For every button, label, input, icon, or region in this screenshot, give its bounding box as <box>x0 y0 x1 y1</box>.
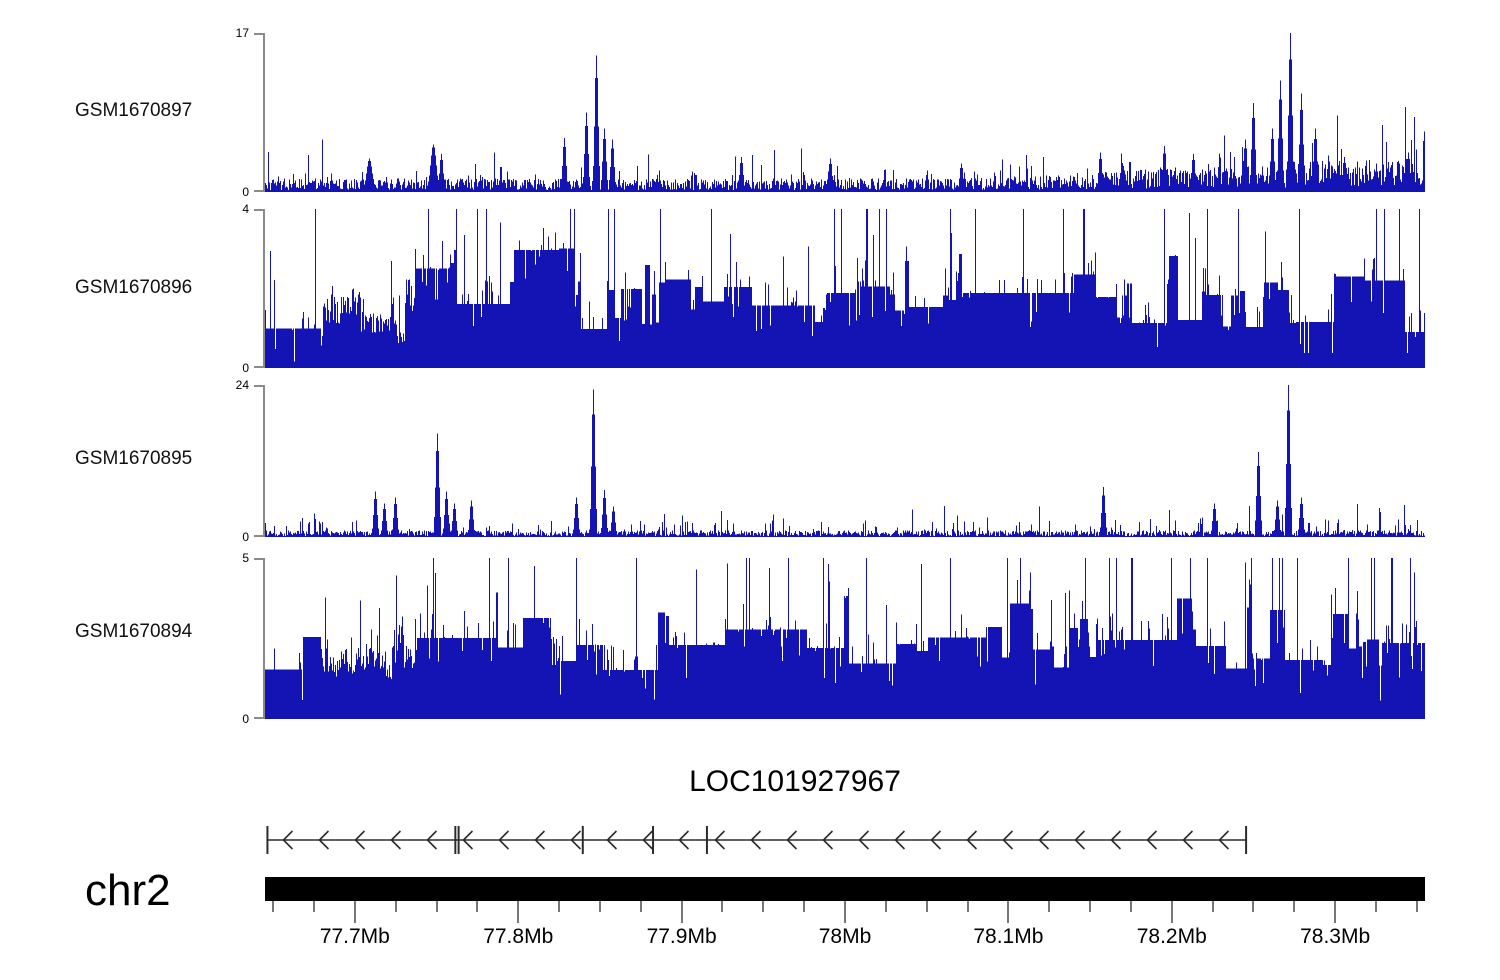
ruler-tick-minor <box>599 901 601 912</box>
y-axis-min-GSM1670897: 0 <box>209 186 249 198</box>
y-axis-max-GSM1670894: 5 <box>209 552 249 564</box>
ruler-tick-label: 77.7Mb <box>275 925 435 949</box>
ruler-tick-minor <box>721 901 723 912</box>
ruler-tick-major <box>354 901 356 923</box>
ruler-tick-label: 78Mb <box>765 925 925 949</box>
ruler-tick-minor <box>1416 901 1418 912</box>
genome-browser: GSM1670897170GSM167089640GSM1670895240GS… <box>0 0 1500 980</box>
ruler-tick-major <box>844 901 846 923</box>
ruler-tick-label: 77.9Mb <box>602 925 762 949</box>
track-label-GSM1670894: GSM1670894 <box>75 621 235 643</box>
chromosome-label: chr2 <box>85 866 171 916</box>
ruler-tick-minor <box>476 901 478 912</box>
ruler-tick-minor <box>558 901 560 912</box>
chromosome-ideogram-bar <box>265 877 1425 901</box>
y-axis-min-GSM1670894: 0 <box>209 713 249 725</box>
ruler-tick-minor <box>762 901 764 912</box>
ruler-tick-minor <box>395 901 397 912</box>
ruler-tick-label: 77.8Mb <box>438 925 598 949</box>
ruler-tick-minor <box>1089 901 1091 912</box>
gene-label: LOC101927967 <box>535 765 1055 799</box>
y-axis-max-GSM1670897: 17 <box>209 27 249 39</box>
track-label-GSM1670896: GSM1670896 <box>75 277 235 299</box>
ruler-tick-major <box>681 901 683 923</box>
y-axis-min-GSM1670895: 0 <box>209 531 249 543</box>
ruler-tick-minor <box>272 901 274 912</box>
ruler-tick-minor <box>885 901 887 912</box>
ruler-tick-minor <box>1375 901 1377 912</box>
coverage-plot-GSM1670894[interactable] <box>265 558 1425 719</box>
ruler-tick-minor <box>1252 901 1254 912</box>
ruler-tick-minor <box>926 901 928 912</box>
track-label-GSM1670897: GSM1670897 <box>75 100 235 122</box>
ruler-tick-label: 78.1Mb <box>928 925 1088 949</box>
coverage-plot-GSM1670897[interactable] <box>265 33 1425 192</box>
coverage-plot-GSM1670896[interactable] <box>265 209 1425 368</box>
ruler-tick-minor <box>967 901 969 912</box>
ruler-tick-major <box>1334 901 1336 923</box>
y-axis-min-GSM1670896: 0 <box>209 362 249 374</box>
gene-model-track[interactable] <box>265 818 1425 862</box>
y-axis-max-GSM1670896: 4 <box>209 203 249 215</box>
ruler-tick-label: 78.3Mb <box>1255 925 1415 949</box>
ruler-tick-minor <box>1293 901 1295 912</box>
ruler-tick-minor <box>803 901 805 912</box>
ruler-tick-minor <box>1130 901 1132 912</box>
ruler-tick-minor <box>640 901 642 912</box>
ruler-tick-minor <box>1048 901 1050 912</box>
ruler-tick-major <box>1171 901 1173 923</box>
ruler-tick-label: 78.2Mb <box>1092 925 1252 949</box>
ruler-tick-minor <box>313 901 315 912</box>
coverage-plot-GSM1670895[interactable] <box>265 385 1425 537</box>
ruler-tick-major <box>517 901 519 923</box>
track-label-GSM1670895: GSM1670895 <box>75 448 235 470</box>
ruler-tick-major <box>1007 901 1009 923</box>
genomic-coordinate-ruler: 77.7Mb77.8Mb77.9Mb78Mb78.1Mb78.2Mb78.3Mb <box>265 901 1425 961</box>
y-axis-max-GSM1670895: 24 <box>209 379 249 391</box>
ruler-tick-minor <box>1212 901 1214 912</box>
ruler-tick-minor <box>436 901 438 912</box>
